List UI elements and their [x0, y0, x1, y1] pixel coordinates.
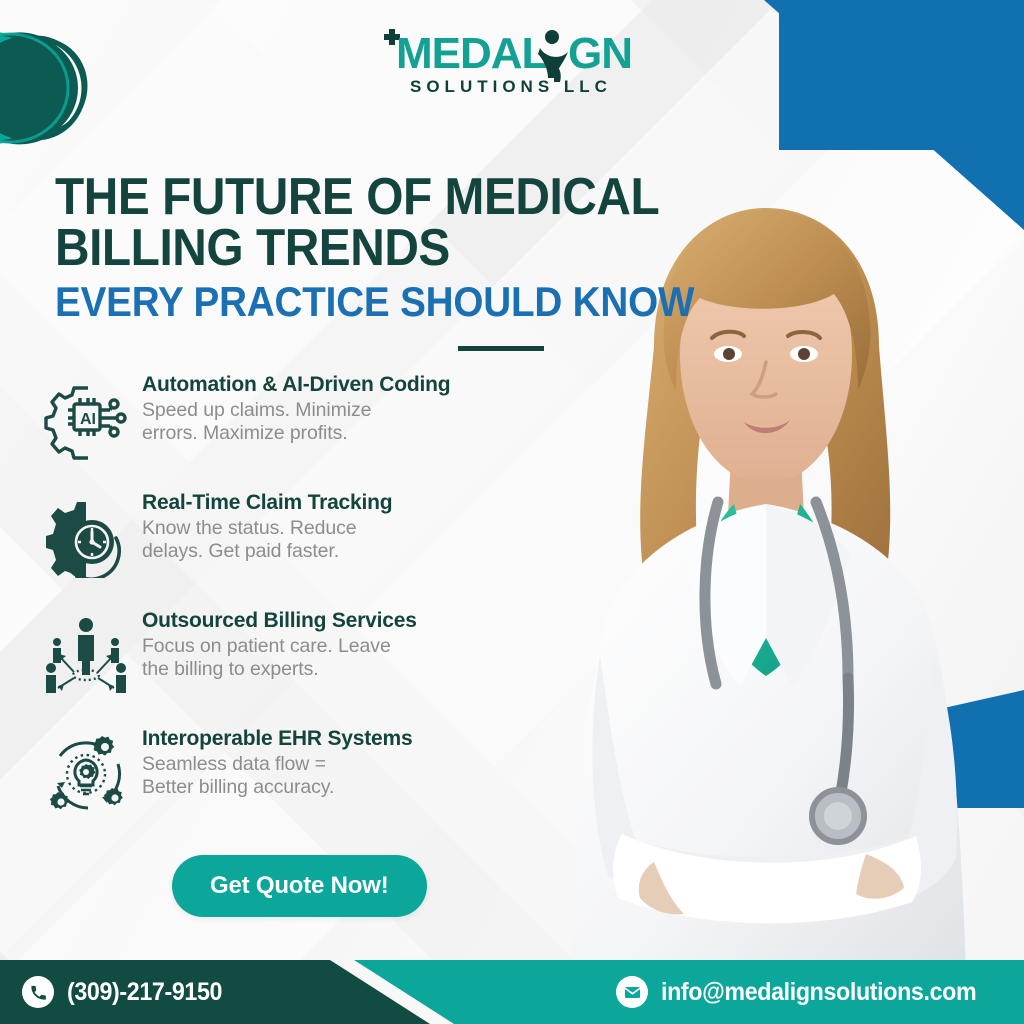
headline-block: THE FUTURE OF MEDICAL BILLING TRENDS EVE… [55, 172, 585, 324]
email-address: info@medalignsolutions.com [661, 978, 976, 1007]
feature-item: Real-Time Claim Tracking Know the status… [40, 490, 520, 596]
svg-text:AI: AI [80, 411, 96, 428]
feature-description: Know the status. Reduce delays. Get paid… [142, 517, 520, 563]
brush-rings-decoration [0, 28, 140, 148]
feature-title: Interoperable EHR Systems [142, 726, 520, 751]
ai-gear-chip-icon: AI [44, 376, 128, 460]
phone-icon [22, 976, 54, 1008]
brand-logo: MEDAL GN SOLUTIONS LLC [380, 24, 650, 106]
feature-description: Speed up claims. Minimize errors. Maximi… [142, 399, 520, 445]
phone-contact[interactable]: (309)-217-9150 [22, 976, 234, 1008]
gears-lightbulb-cycle-icon [44, 730, 128, 814]
feature-item: Interoperable EHR Systems Seamless data … [40, 726, 520, 832]
envelope-icon [616, 976, 648, 1008]
feature-title: Automation & AI-Driven Coding [142, 372, 520, 397]
phone-number: (309)-217-9150 [67, 978, 222, 1007]
feature-list: AI Automation & AI-Driven Coding Speed u… [40, 372, 520, 844]
feature-description: Seamless data flow = Better billing accu… [142, 753, 520, 799]
footer-bar: (309)-217-9150 info@medalignsolutions.co… [0, 960, 1024, 1024]
feature-item: AI Automation & AI-Driven Coding Speed u… [40, 372, 520, 478]
poster-canvas: MEDAL GN SOLUTIONS LLC THE FUTURE OF MED… [0, 0, 1024, 1024]
email-contact[interactable]: info@medalignsolutions.com [616, 976, 1000, 1008]
people-network-icon [44, 612, 128, 696]
gear-clock-tracking-icon [44, 494, 128, 578]
headline-line-2: BILLING TRENDS [55, 223, 543, 274]
feature-title: Outsourced Billing Services [142, 608, 520, 633]
feature-title: Real-Time Claim Tracking [142, 490, 520, 515]
feature-item: Outsourced Billing Services Focus on pat… [40, 608, 520, 714]
feature-description: Focus on patient care. Leave the billing… [142, 635, 520, 681]
brand-tagline: SOLUTIONS LLC [410, 77, 612, 96]
headline-underline [458, 346, 544, 351]
brand-name-part2: GN [568, 29, 632, 78]
get-quote-button[interactable]: Get Quote Now! [172, 855, 427, 917]
brand-name-part1: MEDAL [396, 29, 548, 78]
headline-line-1: THE FUTURE OF MEDICAL [55, 172, 543, 223]
headline-subline: EVERY PRACTICE SHOULD KNOW [55, 280, 543, 324]
